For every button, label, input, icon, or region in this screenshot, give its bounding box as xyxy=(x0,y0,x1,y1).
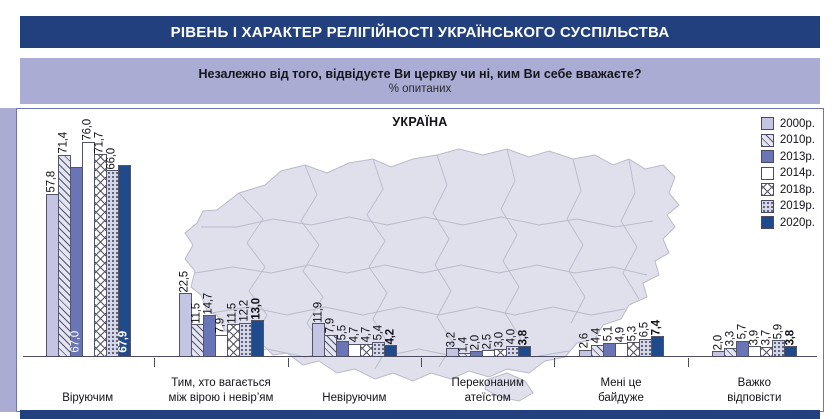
bar-value-label: 71,7 xyxy=(94,132,106,154)
category-label-line: Важко xyxy=(688,376,821,390)
bar-group-bars: 11,97,95,54,74,75,44,2 xyxy=(288,111,421,357)
bar-group: 3,21,42,02,53,04,03,8 xyxy=(421,111,554,357)
bar-value-label: 3,7 xyxy=(761,330,773,345)
bar-value-label: 3,8 xyxy=(518,330,530,345)
bar-value-label: 5,5 xyxy=(337,325,349,340)
bar-value-label: 3,8 xyxy=(785,330,797,345)
category-label: Важковідповісти xyxy=(688,376,821,405)
bar-value-label: 5,9 xyxy=(773,324,785,339)
category-label-line: відповісти xyxy=(688,391,821,405)
chart-plot-area: 57,871,467,076,071,766,067,922,511,514,7… xyxy=(21,111,819,357)
bar-value-label: 3,0 xyxy=(494,332,506,347)
bar-group-bars: 2,64,45,14,95,36,57,4 xyxy=(554,111,687,357)
chart-panel: УКРАЇНА 2000р.2010р.2013р.2014р.2018р.20… xyxy=(16,108,824,412)
bar-value-label: 22,5 xyxy=(180,271,192,293)
bar-value-label: 4,2 xyxy=(385,329,397,344)
axis-tick xyxy=(688,358,689,367)
axis-tick xyxy=(154,358,155,367)
page-title-bar: РІВЕНЬ І ХАРАКТЕР РЕЛІГІЙНОСТІ УКРАЇНСЬК… xyxy=(20,16,820,48)
bar-value-label: 1,4 xyxy=(458,337,470,352)
question-subtitle: % опитаних xyxy=(389,83,452,95)
bar-value-label: 5,4 xyxy=(373,325,385,340)
left-accent-strip xyxy=(0,108,16,412)
axis-tick xyxy=(288,358,289,367)
infographic-root: РІВЕНЬ І ХАРАКТЕР РЕЛІГІЙНОСТІ УКРАЇНСЬК… xyxy=(0,0,840,419)
bar-value-label: 67,9 xyxy=(118,331,130,353)
bar-group-bars: 22,511,514,77,911,512,213,0 xyxy=(154,111,287,357)
bar-value-label: 13,0 xyxy=(252,298,264,320)
question-band: Незалежно від того, відвідуєте Ви церкву… xyxy=(20,58,820,104)
category-label-line: між вірою і невір’ям xyxy=(154,391,287,405)
bar-2020[interactable]: 7,4 xyxy=(651,336,664,357)
bar-value-label: 14,7 xyxy=(204,293,216,315)
bar-group: 57,871,467,076,071,766,067,9 xyxy=(21,111,154,357)
bar-value-label: 5,7 xyxy=(737,324,749,339)
bar-value-label: 57,8 xyxy=(46,171,58,193)
category-axis: ВіруючимТим, хто вагаєтьсяміж вірою і не… xyxy=(21,357,819,411)
category-label-line: Невіруючим xyxy=(288,391,421,405)
bar-group: 2,64,45,14,95,36,57,4 xyxy=(554,111,687,357)
category-label-line: Тим, хто вагається xyxy=(154,376,287,390)
category-label: Тим, хто вагаєтьсяміж вірою і невір’ям xyxy=(154,376,287,405)
bar-2020[interactable]: 67,9 xyxy=(118,165,131,357)
bar-group-bars: 3,21,42,02,53,04,03,8 xyxy=(421,111,554,357)
category-label-line: Віруючим xyxy=(21,391,154,405)
bar-value-label: 4,7 xyxy=(349,327,361,342)
footer-strip xyxy=(20,410,820,419)
axis-tick xyxy=(554,358,555,367)
bar-value-label: 67,0 xyxy=(70,331,82,353)
bar-value-label: 3,2 xyxy=(446,332,458,347)
category-label-line: Переконаним xyxy=(421,376,554,390)
bar-group-bars: 57,871,467,076,071,766,067,9 xyxy=(21,111,154,357)
axis-tick xyxy=(421,358,422,367)
category-label-line: байдуже xyxy=(554,391,687,405)
category-label: Віруючим xyxy=(21,391,154,405)
bar-value-label: 2,0 xyxy=(713,335,725,350)
category-label: Невіруючим xyxy=(288,391,421,405)
bar-group-bars: 2,03,35,73,93,75,93,8 xyxy=(688,111,821,357)
category-label: Мені цебайдуже xyxy=(554,376,687,405)
question-text: Незалежно від того, відвідуєте Ви церкву… xyxy=(199,67,642,81)
bar-value-label: 4,7 xyxy=(361,327,373,342)
bar-value-label: 7,9 xyxy=(325,318,337,333)
bar-value-label: 4,0 xyxy=(506,329,518,344)
bar-group: 22,511,514,77,911,512,213,0 xyxy=(154,111,287,357)
page-title: РІВЕНЬ І ХАРАКТЕР РЕЛІГІЙНОСТІ УКРАЇНСЬК… xyxy=(171,24,670,41)
bar-group: 2,03,35,73,93,75,93,8 xyxy=(688,111,821,357)
bar-value-label: 2,5 xyxy=(482,334,494,349)
category-label-line: Мені це xyxy=(554,376,687,390)
bar-value-label: 71,4 xyxy=(58,132,70,154)
category-label: Переконаниматеїстом xyxy=(421,376,554,405)
bar-value-label: 2,0 xyxy=(470,335,482,350)
bar-value-label: 3,9 xyxy=(749,330,761,345)
bar-group: 11,97,95,54,74,75,44,2 xyxy=(288,111,421,357)
bar-2020[interactable]: 13,0 xyxy=(251,320,264,357)
category-label-line: атеїстом xyxy=(421,391,554,405)
bar-value-label: 7,4 xyxy=(652,320,664,335)
bar-value-label: 66,0 xyxy=(106,148,118,170)
bar-value-label: 11,9 xyxy=(313,302,325,323)
bar-value-label: 3,3 xyxy=(725,331,737,346)
bar-value-label: 76,0 xyxy=(82,119,94,141)
